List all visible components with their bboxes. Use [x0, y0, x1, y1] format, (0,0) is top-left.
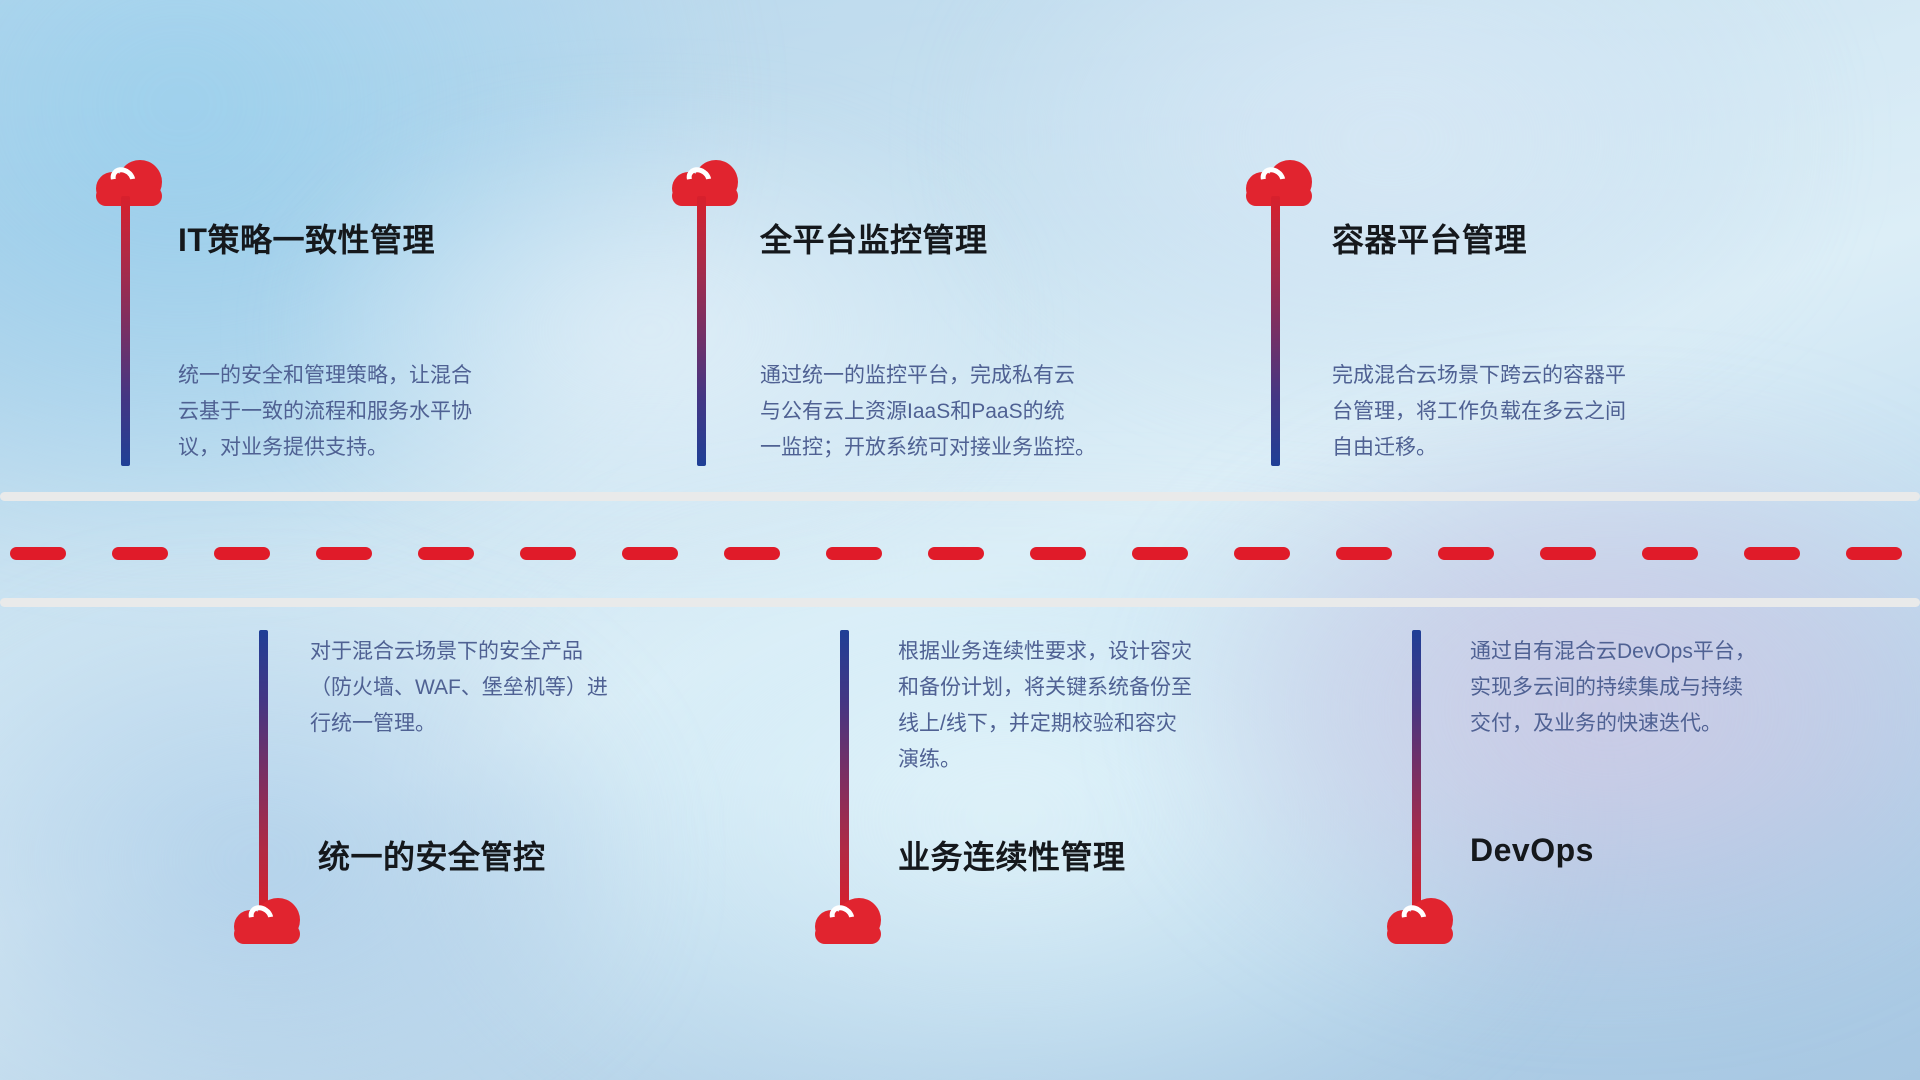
bottom-item-2-body: 根据业务连续性要求，设计容灾 和备份计划，将关键系统备份至 线上/线下，并定期校… — [898, 634, 1328, 778]
top-item-2-title: 全平台监控管理 — [760, 215, 988, 261]
divider-dashed-line — [0, 546, 1920, 560]
divider-line-top — [0, 492, 1920, 501]
bottom-item-3-body: 通过自有混合云DevOps平台， 实现多云间的持续集成与持续 交付，及业务的快速… — [1470, 634, 1900, 742]
divider-line-bottom — [0, 598, 1920, 607]
bottom-item-2 — [815, 898, 881, 944]
bottom-item-1-bar — [259, 630, 268, 910]
divider-dash — [928, 547, 984, 560]
divider-dash — [724, 547, 780, 560]
top-item-1-title: IT策略一致性管理 — [178, 215, 435, 261]
top-item-2-body: 通过统一的监控平台，完成私有云 与公有云上资源IaaS和PaaS的统 一监控；开… — [760, 358, 1220, 466]
bottom-item-3-title: DevOps — [1470, 832, 1594, 869]
top-item-1-bar — [121, 196, 130, 466]
divider-dash — [214, 547, 270, 560]
top-item-1-body: 统一的安全和管理策略，让混合 云基于一致的流程和服务水平协 议，对业务提供支持。 — [178, 358, 608, 466]
bottom-item-1-title: 统一的安全管控 — [318, 832, 546, 878]
divider-dash — [1744, 547, 1800, 560]
top-item-3-title: 容器平台管理 — [1332, 215, 1527, 261]
divider-dash — [1030, 547, 1086, 560]
divider-dash — [418, 547, 474, 560]
bottom-item-1-body: 对于混合云场景下的安全产品 （防火墙、WAF、堡垒机等）进 行统一管理。 — [310, 634, 740, 742]
divider-dash — [520, 547, 576, 560]
top-item-2-bar — [697, 196, 706, 466]
divider-dash — [112, 547, 168, 560]
top-item-3-bar — [1271, 196, 1280, 466]
cloud-icon — [234, 898, 300, 944]
bottom-item-1 — [234, 898, 300, 944]
divider-dash — [1642, 547, 1698, 560]
bottom-item-3-bar — [1412, 630, 1421, 910]
divider-dash — [10, 547, 66, 560]
divider-dash — [1336, 547, 1392, 560]
cloud-icon — [815, 898, 881, 944]
divider-dash — [1846, 547, 1902, 560]
top-item-3-body: 完成混合云场景下跨云的容器平 台管理，将工作负载在多云之间 自由迁移。 — [1332, 358, 1782, 466]
infographic-canvas: IT策略一致性管理 统一的安全和管理策略，让混合 云基于一致的流程和服务水平协 … — [0, 0, 1920, 1080]
bottom-item-2-bar — [840, 630, 849, 910]
bottom-item-2-title: 业务连续性管理 — [898, 832, 1126, 878]
divider-dash — [1540, 547, 1596, 560]
divider-dash — [1132, 547, 1188, 560]
bottom-item-3 — [1387, 898, 1453, 944]
cloud-icon — [1387, 898, 1453, 944]
divider-dash — [316, 547, 372, 560]
divider-dash — [1438, 547, 1494, 560]
divider-dash — [622, 547, 678, 560]
divider-dash — [1234, 547, 1290, 560]
divider-dash — [826, 547, 882, 560]
